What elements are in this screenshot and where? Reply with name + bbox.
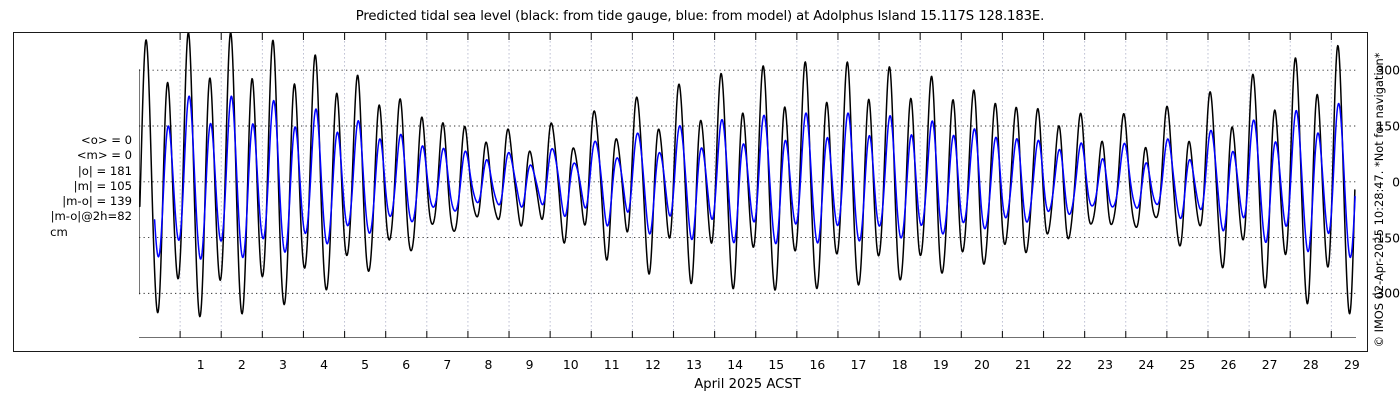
x-axis-tick-label: 24 xyxy=(1138,357,1154,372)
x-axis-tick-label: 23 xyxy=(1097,357,1113,372)
x-axis-tick-label: 9 xyxy=(526,357,534,372)
x-axis-tick-label: 5 xyxy=(361,357,369,372)
x-axis-tick-label: 8 xyxy=(485,357,493,372)
statistic-line-1: <o> = 0 xyxy=(8,133,132,148)
x-axis-tick-label: 25 xyxy=(1180,357,1196,372)
statistic-line-5: |m-o| = 139 xyxy=(8,194,132,209)
statistic-line-2: <m> = 0 xyxy=(8,148,132,163)
x-axis-tick-label: 21 xyxy=(1015,357,1031,372)
x-axis-tick-label: 18 xyxy=(892,357,908,372)
tidal-sea-level-chart: Predicted tidal sea level (black: from t… xyxy=(0,0,1400,400)
x-axis-tick-label: 19 xyxy=(933,357,949,372)
x-axis-tick-label: 15 xyxy=(768,357,784,372)
statistic-line-4: |m| = 105 xyxy=(8,179,132,194)
x-axis-tick-label: 14 xyxy=(727,357,743,372)
x-axis-tick-label: 26 xyxy=(1221,357,1237,372)
plot-svg xyxy=(139,33,1356,338)
x-axis-tick-label: 13 xyxy=(686,357,702,372)
x-axis-tick-label: 27 xyxy=(1262,357,1278,372)
x-axis-title: April 2025 ACST xyxy=(139,377,1356,392)
x-axis-tick-label: 11 xyxy=(604,357,620,372)
page-title: Predicted tidal sea level (black: from t… xyxy=(0,9,1400,24)
x-axis-tick-label: 29 xyxy=(1344,357,1360,372)
x-axis-tick-label: 22 xyxy=(1056,357,1072,372)
x-axis-tick-label: 3 xyxy=(279,357,287,372)
statistics-units: cm xyxy=(8,225,132,240)
x-axis-tick-label: 2 xyxy=(238,357,246,372)
statistics-block: <o> = 0<m> = 0|o| = 181|m| = 105|m-o| = … xyxy=(8,133,132,240)
x-axis-tick-label: 7 xyxy=(443,357,451,372)
plot-area xyxy=(139,33,1356,338)
x-axis-tick-label: 16 xyxy=(810,357,826,372)
x-axis-tick-label: 28 xyxy=(1303,357,1319,372)
x-axis-tick-label: 20 xyxy=(974,357,990,372)
x-axis-tick-label: 17 xyxy=(851,357,867,372)
x-axis-tick-label: 10 xyxy=(563,357,579,372)
credit-text: © IMOS 02-Apr-2025 10:28:47. *Not for na… xyxy=(1372,53,1386,348)
x-axis-tick-label: 4 xyxy=(320,357,328,372)
statistic-line-6: |m-o|@2h=82 xyxy=(8,209,132,224)
statistic-line-3: |o| = 181 xyxy=(8,164,132,179)
x-axis-tick-label: 1 xyxy=(197,357,205,372)
x-axis-tick-label: 6 xyxy=(402,357,410,372)
x-axis-tick-label: 12 xyxy=(645,357,661,372)
